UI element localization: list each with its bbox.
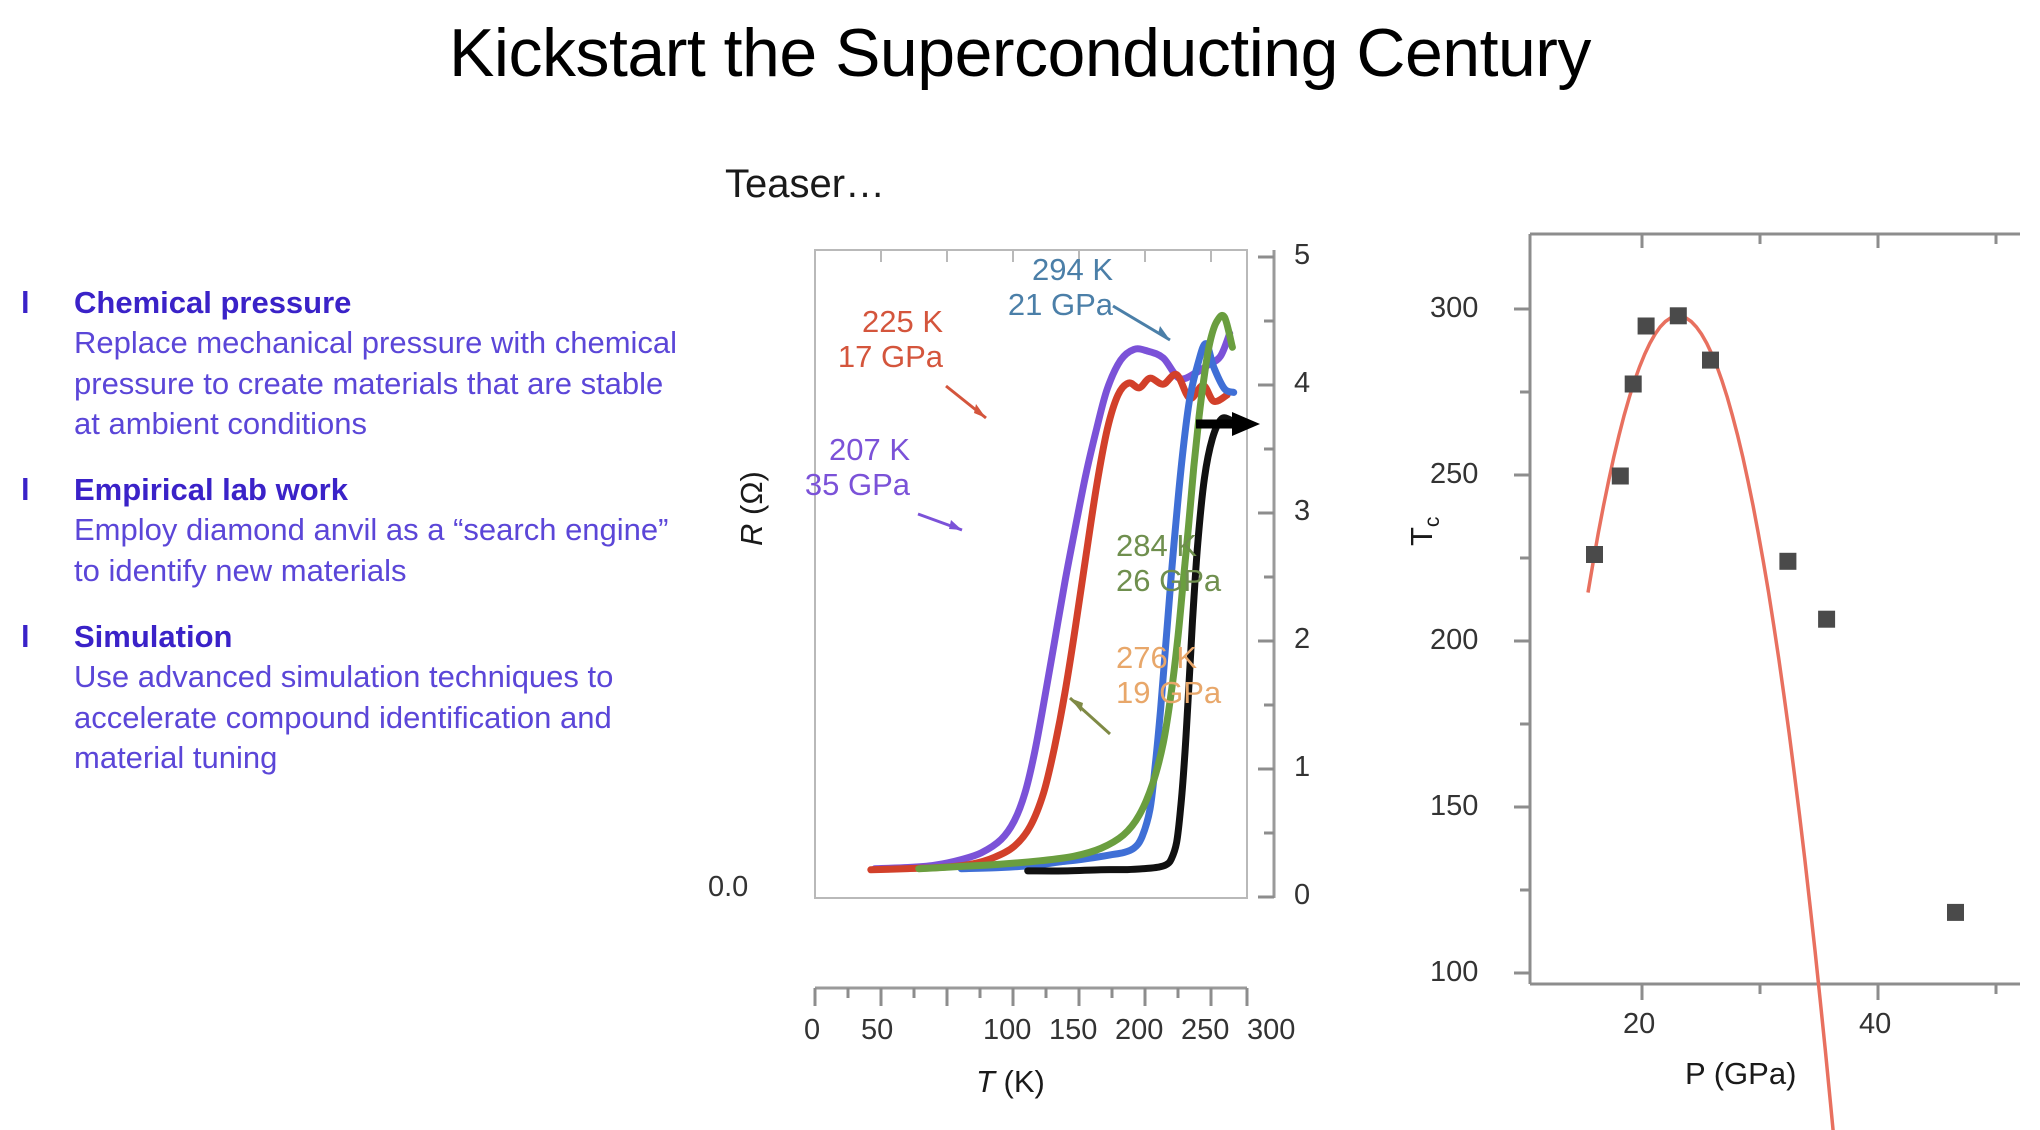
xtick-label-300: 300: [1247, 1014, 1295, 1047]
ytick-label-200: 200: [1430, 624, 1478, 657]
xtick-label-40: 40: [1859, 1008, 1891, 1041]
anno-207-35: 207 K 35 GPa: [660, 432, 910, 502]
anno-207-35-line1: 207 K: [660, 432, 910, 467]
anno-276-19-line1: 276 K: [1116, 640, 1286, 675]
bullet-marker-icon: l: [18, 617, 60, 657]
bullet-marker-icon: l: [18, 283, 60, 323]
xticks-bottom: [815, 988, 1247, 1006]
chart-tc-vs-pressure: 300 250 200 150 100 20 40 Tc P (GPa): [1420, 216, 2020, 1046]
ytick-label-right-5: 5: [1294, 239, 1310, 272]
bullet-body: Use advanced simulation techniques to ac…: [18, 657, 694, 778]
ytick-label-100: 100: [1430, 956, 1478, 989]
anno-294-21-line1: 294 K: [853, 252, 1113, 287]
bullet-title: Empirical lab work: [60, 470, 348, 510]
ytick-label-right-4: 4: [1294, 367, 1310, 400]
data-point: [1638, 318, 1655, 335]
xticks-top: [1642, 234, 1996, 248]
yticks: [1514, 309, 1530, 973]
xtick-label-50: 50: [861, 1014, 893, 1047]
xtick-label-200: 200: [1115, 1014, 1163, 1047]
axis-label-y-tc: Tc: [1404, 517, 1445, 546]
xtick-label-100: 100: [983, 1014, 1031, 1047]
anno-284-26-line1: 284 K: [1116, 528, 1286, 563]
anno-225-17-line1: 225 K: [693, 304, 943, 339]
ytick-label-250: 250: [1430, 458, 1478, 491]
bullet-body: Replace mechanical pressure with chemica…: [18, 323, 694, 444]
xtick-label-0: 0: [804, 1014, 820, 1047]
ytick-label-right-0: 0: [1294, 879, 1310, 912]
anno-225-17: 225 K 17 GPa: [693, 304, 943, 374]
bullet-heading-simulation: l Simulation: [18, 617, 718, 657]
axis-label-x-temperature: T (K): [976, 1064, 1045, 1100]
list-item: l Empirical lab work Employ diamond anvi…: [18, 470, 718, 591]
xtick-label-250: 250: [1181, 1014, 1229, 1047]
data-point: [1702, 352, 1719, 369]
anno-284-26-line2: 26 GPa: [1116, 563, 1286, 598]
anno-225-17-line2: 17 GPa: [693, 339, 943, 374]
ytick-label-150: 150: [1430, 790, 1478, 823]
teaser-caption: Teaser…: [725, 162, 885, 207]
axis-label-y-tc-sub: c: [1421, 517, 1444, 528]
ytick-label-right-1: 1: [1294, 751, 1310, 784]
ytick-label-300: 300: [1430, 292, 1478, 325]
xtick-label-20: 20: [1623, 1008, 1655, 1041]
axis-label-y-tc-main: T: [1404, 527, 1439, 546]
ytick-label-right-2: 2: [1294, 623, 1310, 656]
bullet-heading-empirical-lab-work: l Empirical lab work: [18, 470, 718, 510]
data-point: [1586, 546, 1603, 563]
data-point: [1947, 904, 1964, 921]
data-point: [1818, 611, 1835, 628]
anno-276-19: 276 K 19 GPa: [1116, 640, 1286, 710]
bullet-list: l Chemical pressure Replace mechanical p…: [18, 283, 718, 804]
data-point: [1779, 553, 1796, 570]
list-item: l Simulation Use advanced simulation tec…: [18, 617, 718, 778]
anno-284-26: 284 K 26 GPa: [1116, 528, 1286, 598]
bullet-marker-icon: l: [18, 470, 60, 510]
data-point: [1612, 468, 1629, 485]
data-point: [1625, 376, 1642, 393]
ytick-label-left-0: 0.0: [708, 871, 748, 904]
ytick-label-right-3: 3: [1294, 495, 1310, 528]
bullet-heading-chemical-pressure: l Chemical pressure: [18, 283, 718, 323]
anno-276-19-line2: 19 GPa: [1116, 675, 1286, 710]
axis-label-x-pressure: P (GPa): [1685, 1056, 1796, 1092]
data-point: [1670, 307, 1687, 324]
data-points-group: [1586, 307, 1964, 921]
chart-resistance-vs-temperature: R (Ω) 0.0: [718, 246, 1308, 1036]
plot-area-tc: [1420, 216, 2020, 1046]
list-item: l Chemical pressure Replace mechanical p…: [18, 283, 718, 444]
page-title: Kickstart the Superconducting Century: [0, 14, 2040, 92]
anno-207-35-line2: 35 GPa: [660, 467, 910, 502]
bullet-title: Chemical pressure: [60, 283, 351, 323]
xtick-label-150: 150: [1049, 1014, 1097, 1047]
bullet-title: Simulation: [60, 617, 232, 657]
bullet-body: Employ diamond anvil as a “search engine…: [18, 510, 694, 591]
